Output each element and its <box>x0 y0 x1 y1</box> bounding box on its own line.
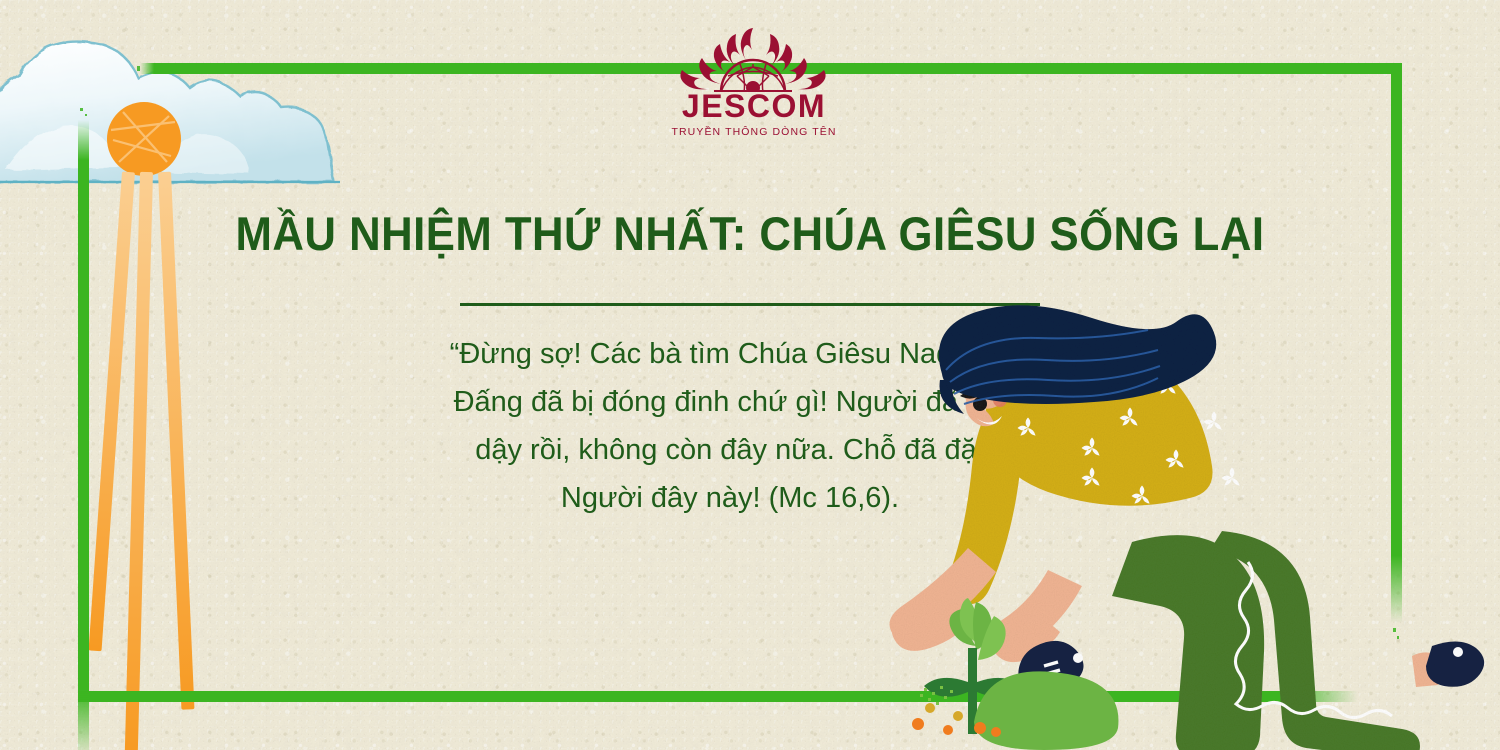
seed <box>953 711 963 721</box>
poster-canvas: JESCOM TRUYỀN THÔNG DÒNG TÊN MẦU NHIỆM T… <box>0 0 1500 750</box>
page-title: MẦU NHIỆM THỨ NHẤT: CHÚA GIÊSU SỐNG LẠI <box>53 206 1448 261</box>
jescom-tagline: TRUYỀN THÔNG DÒNG TÊN <box>668 127 840 138</box>
seed <box>943 725 953 735</box>
person-kneeling-leg <box>1112 535 1264 750</box>
jescom-sunburst-globe-icon <box>668 26 840 92</box>
frame-speckle <box>85 114 87 116</box>
plant-and-soil <box>910 590 1130 750</box>
jescom-wordmark: JESCOM <box>668 90 840 122</box>
seed <box>991 727 1001 737</box>
jescom-logo[interactable]: JESCOM TRUYỀN THÔNG DÒNG TÊN <box>668 26 840 144</box>
seed <box>974 722 986 734</box>
seed <box>912 718 924 730</box>
frame-speckle <box>137 66 140 71</box>
shoe-dot <box>1453 647 1463 657</box>
frame-speckle <box>80 108 83 111</box>
orange-kite-sun-disc <box>105 100 183 178</box>
seed <box>925 703 935 713</box>
cloud-kite-illustration <box>0 22 342 217</box>
